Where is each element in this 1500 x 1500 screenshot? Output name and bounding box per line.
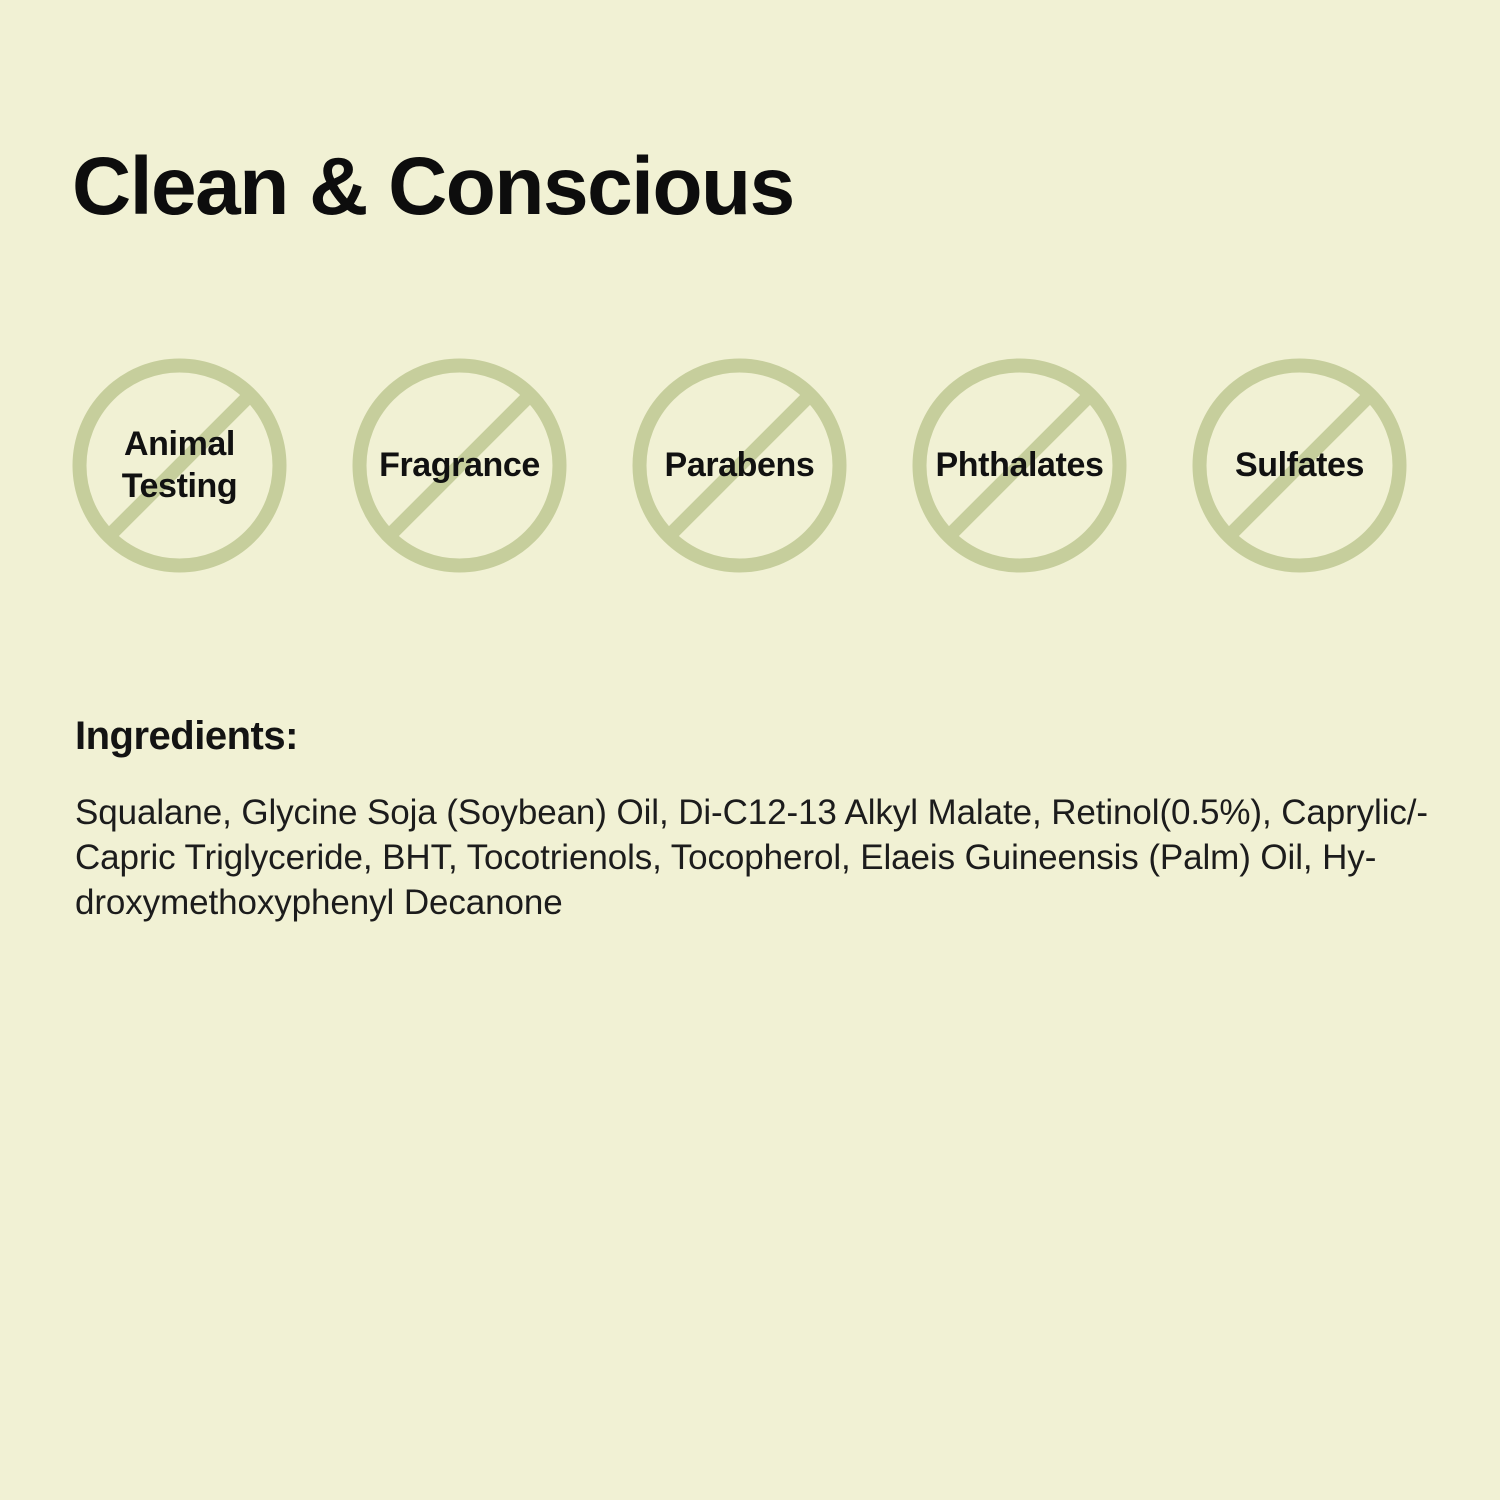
badge-label: Animal Testing [72,424,287,507]
page-title: Clean & Conscious [72,146,794,228]
badge-label: Parabens [632,445,847,486]
ingredients-line: droxymethoxyphenyl Decanone [75,880,1430,925]
badge-label: Phthalates [912,445,1127,486]
badge-animal-testing: Animal Testing [72,358,287,573]
ingredients-line: Capric Triglyceride, BHT, Tocotrienols, … [75,835,1430,880]
badge-sulfates: Sulfates [1192,358,1407,573]
badge-label: Fragrance [352,445,567,486]
badge-phthalates: Phthalates [912,358,1127,573]
badge-fragrance: Fragrance [352,358,567,573]
ingredients-text: Squalane, Glycine Soja (Soybean) Oil, Di… [75,790,1430,925]
ingredients-heading: Ingredients: [75,714,298,759]
free-from-badge-row: Animal Testing Fragrance Parabens Phthal… [72,358,1428,582]
badge-label: Sulfates [1192,445,1407,486]
product-info-panel: Clean & Conscious Animal Testing Fragran… [0,0,1500,1500]
ingredients-line: Squalane, Glycine Soja (Soybean) Oil, Di… [75,790,1430,835]
badge-parabens: Parabens [632,358,847,573]
